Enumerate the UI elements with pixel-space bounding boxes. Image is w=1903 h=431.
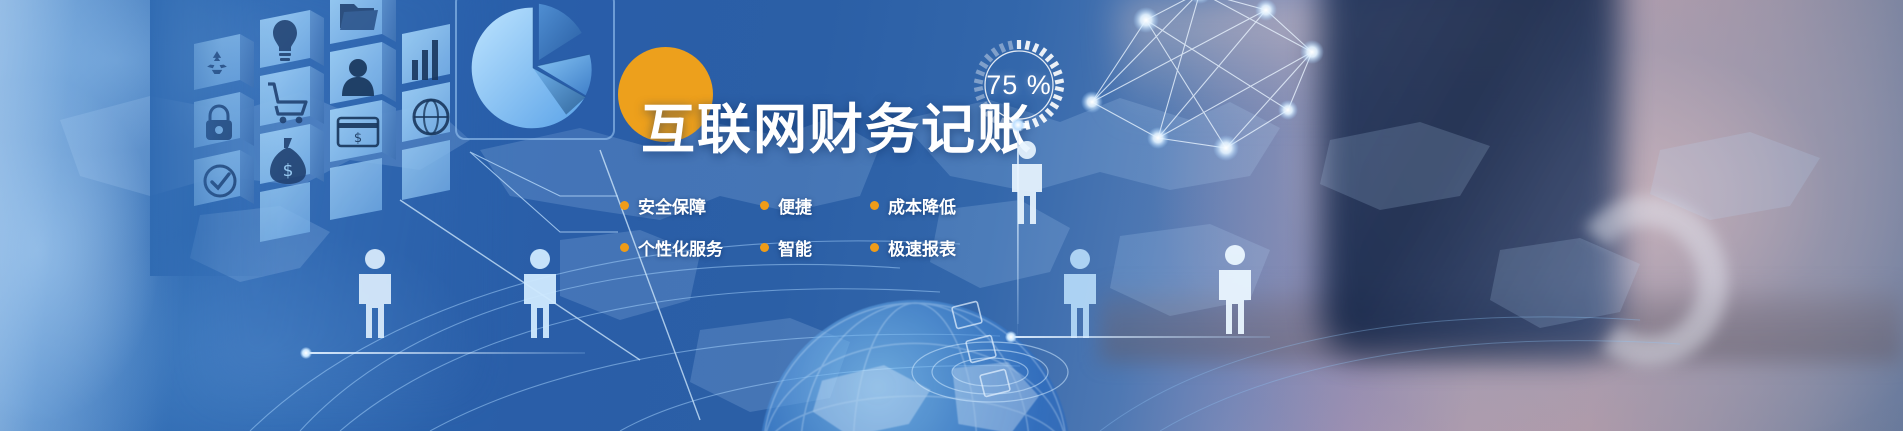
bullet-dot-icon: [870, 201, 879, 210]
icon-cube-grid: $ $: [150, 0, 470, 276]
svg-text:$: $: [354, 131, 362, 146]
feature-label: 安全保障: [638, 193, 706, 218]
feature-label: 智能: [778, 235, 812, 260]
person-figure-icon: [1215, 244, 1255, 336]
feature-label: 个性化服务: [638, 235, 723, 260]
person-figure-icon: [355, 248, 395, 340]
feature-label: 便捷: [778, 193, 812, 218]
svg-text:$: $: [283, 161, 294, 181]
person-figure-icon: [1060, 248, 1100, 340]
person-figure-icon: [1008, 140, 1046, 226]
baseline-indicator-right: [1010, 336, 1270, 338]
feature-item-convenient: 便捷: [760, 184, 870, 226]
feature-item-fast-reports: 极速报表: [870, 226, 990, 268]
feature-label: 极速报表: [888, 235, 956, 260]
feature-item-personalized-service: 个性化服务: [620, 226, 760, 268]
baseline-indicator-left: [305, 352, 585, 354]
bullet-dot-icon: [870, 243, 879, 252]
person-figure-icon: [520, 248, 560, 340]
floating-panels-decor: [940, 300, 1030, 410]
bullet-dot-icon: [760, 243, 769, 252]
feature-list: 安全保障 便捷 成本降低 个性化服务 智能 极速报表: [620, 184, 990, 268]
bullet-dot-icon: [620, 201, 629, 210]
gauge-anchor-node: [1011, 118, 1025, 132]
bullet-dot-icon: [620, 243, 629, 252]
feature-label: 成本降低: [888, 193, 956, 218]
node-network-icon: [1050, 0, 1370, 192]
feature-item-cost-reduction: 成本降低: [870, 184, 990, 226]
bullet-dot-icon: [760, 201, 769, 210]
pie-chart-panel: [455, 0, 615, 140]
marketing-banner: $ $: [0, 0, 1903, 431]
feature-item-security: 安全保障: [620, 184, 760, 226]
feature-item-intelligent: 智能: [760, 226, 870, 268]
